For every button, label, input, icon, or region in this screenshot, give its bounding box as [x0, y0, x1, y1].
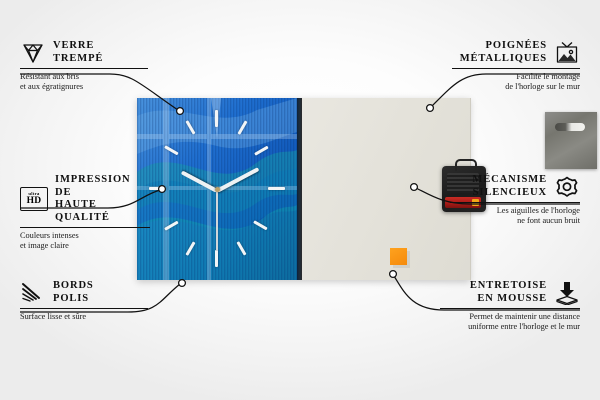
- clock-hand-hub: [215, 187, 220, 192]
- clock-front-face: [137, 98, 297, 280]
- picture-hanger-icon: [554, 41, 580, 65]
- feature-subtitle: Surface lisse et sûre: [20, 312, 148, 322]
- ultra-hd-icon-main-label: HD: [27, 197, 42, 207]
- foam-spacer-icon: [554, 281, 580, 305]
- feature-poignees-metalliques: POIGNÉESMÉTALLIQUES Facilite le montaged…: [452, 40, 580, 93]
- feature-entretoise-en-mousse: ENTRETOISEEN MOUSSE Permet de maintenir …: [440, 280, 580, 333]
- metal-hanger-plate: [545, 112, 597, 169]
- divider: [450, 202, 580, 203]
- feature-header: MÉCANISMESILENCIEUX: [450, 174, 580, 199]
- divider: [20, 308, 148, 309]
- feature-title: IMPRESSION DEHAUTE QUALITÉ: [55, 174, 150, 224]
- feature-subtitle: Les aiguilles de l'horlogene font aucun …: [450, 206, 580, 227]
- feature-bords-polis: BORDSPOLIS Surface lisse et sûre: [20, 280, 148, 322]
- feature-title: POIGNÉESMÉTALLIQUES: [460, 40, 547, 65]
- divider: [440, 308, 580, 309]
- feature-impression-haute-qualite: ultra HD IMPRESSION DEHAUTE QUALITÉ Coul…: [20, 174, 150, 252]
- feature-title: VERRETREMPÉ: [53, 40, 103, 65]
- foam-spacer: [390, 248, 407, 265]
- gear-icon: [554, 175, 580, 199]
- feature-subtitle: Facilite le montagede l'horloge sur le m…: [452, 72, 580, 93]
- polished-edges-icon: [20, 281, 46, 305]
- divider: [20, 227, 150, 228]
- clock-tick: [215, 250, 218, 267]
- clock-back-panel: [302, 98, 471, 280]
- divider: [452, 68, 580, 69]
- ultra-hd-icon: ultra HD: [20, 187, 48, 211]
- feature-subtitle: Résistant aux briset aux égratignures: [20, 72, 148, 93]
- clock-tick: [215, 110, 218, 127]
- feature-mecanisme-silencieux: MÉCANISMESILENCIEUX Les aiguilles de l'h…: [450, 174, 580, 227]
- divider: [20, 68, 148, 69]
- feature-header: VERRETREMPÉ: [20, 40, 148, 65]
- clock-tick: [149, 187, 166, 190]
- product-photo: [137, 98, 470, 280]
- hanger-keyhole-slot: [555, 123, 585, 131]
- feature-title: ENTRETOISEEN MOUSSE: [470, 280, 547, 305]
- feature-subtitle: Couleurs intenseset image claire: [20, 231, 150, 252]
- feature-verre-trempe: VERRETREMPÉ Résistant aux briset aux égr…: [20, 40, 148, 93]
- diamond-icon: [20, 41, 46, 65]
- feature-title: BORDSPOLIS: [53, 280, 94, 305]
- feature-header: ultra HD IMPRESSION DEHAUTE QUALITÉ: [20, 174, 150, 224]
- clock-second-hand: [216, 189, 217, 251]
- feature-header: POIGNÉESMÉTALLIQUES: [452, 40, 580, 65]
- feature-title: MÉCANISMESILENCIEUX: [472, 174, 547, 199]
- feature-subtitle: Permet de maintenir une distanceuniforme…: [440, 312, 580, 333]
- infographic-canvas: VERRETREMPÉ Résistant aux briset aux égr…: [0, 0, 600, 400]
- feature-header: ENTRETOISEEN MOUSSE: [440, 280, 580, 305]
- clock-tick: [268, 187, 285, 190]
- feature-header: BORDSPOLIS: [20, 280, 148, 305]
- mechanism-hook: [455, 159, 477, 171]
